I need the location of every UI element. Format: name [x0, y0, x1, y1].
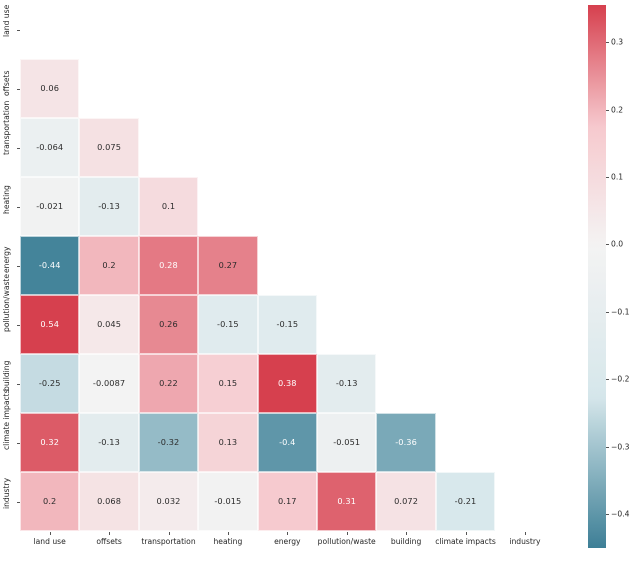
x-axis-tick-label: land use [5, 537, 95, 546]
colorbar-tick-label: 0.2 [611, 105, 623, 114]
heatmap-cell-value: 0.072 [394, 497, 418, 505]
heatmap-cell[interactable]: -0.32 [139, 413, 198, 472]
heatmap-cell[interactable]: -0.4 [258, 413, 317, 472]
colorbar-tick-label: −0.3 [611, 442, 629, 451]
heatmap-cell[interactable]: 0.032 [139, 472, 198, 531]
colorbar-gradient [588, 5, 606, 548]
x-axis-tick-mark [466, 532, 467, 535]
heatmap-cell-value: 0.032 [157, 497, 181, 505]
heatmap-cell-value: -0.13 [98, 202, 120, 210]
heatmap-cell[interactable]: 0.06 [20, 59, 79, 118]
heatmap-cell-value: 0.15 [219, 379, 238, 387]
heatmap-cell[interactable]: 0.28 [139, 236, 198, 295]
heatmap-cell[interactable]: -0.21 [436, 472, 495, 531]
heatmap-cell[interactable]: -0.25 [20, 354, 79, 413]
heatmap-cell-value: -0.21 [455, 497, 477, 505]
heatmap-cell[interactable]: 0.1 [139, 177, 198, 236]
colorbar-tick-label: −0.1 [611, 307, 629, 316]
heatmap-cell-value: 0.13 [219, 438, 238, 446]
heatmap-cell-value: -0.015 [214, 497, 241, 505]
heatmap-cell[interactable]: -0.13 [79, 413, 138, 472]
heatmap-cell[interactable]: -0.051 [317, 413, 376, 472]
x-axis-tick-mark [525, 532, 526, 535]
heatmap-cell-value: -0.15 [276, 320, 298, 328]
heatmap-cell-value: -0.13 [98, 438, 120, 446]
colorbar-tick-label: 0.1 [611, 173, 623, 182]
y-axis-tick-label: building [1, 377, 13, 391]
heatmap-cell[interactable]: -0.44 [20, 236, 79, 295]
heatmap-cell[interactable]: 0.068 [79, 472, 138, 531]
x-axis-tick-mark [287, 532, 288, 535]
colorbar[interactable]: 0.30.20.10.0−0.1−0.2−0.3−0.4 [588, 5, 606, 548]
x-axis-tick-mark [228, 532, 229, 535]
heatmap-cell[interactable]: -0.064 [20, 118, 79, 177]
x-axis-tick-label: pollution/waste [302, 537, 392, 546]
y-axis-tick-label: energy [1, 259, 13, 273]
heatmap-cell-value: 0.2 [102, 261, 115, 269]
heatmap-cell[interactable]: 0.075 [79, 118, 138, 177]
heatmap-cell-value: 0.22 [159, 379, 178, 387]
heatmap-cell-value: -0.32 [158, 438, 180, 446]
colorbar-tick-mark [606, 244, 609, 245]
x-axis-tick-label: transportation [124, 537, 214, 546]
heatmap-cell-value: -0.13 [336, 379, 358, 387]
heatmap-cell-value: -0.25 [39, 379, 61, 387]
heatmap-cell-value: 0.068 [97, 497, 121, 505]
heatmap-cell[interactable]: -0.021 [20, 177, 79, 236]
heatmap-cell-value: -0.44 [39, 261, 61, 269]
heatmap-plot-area[interactable]: 0.06-0.0640.075-0.021-0.130.1-0.440.20.2… [20, 0, 554, 531]
heatmap-cell-value: -0.0087 [93, 379, 125, 387]
heatmap-cell-value: 0.17 [278, 497, 297, 505]
x-axis-tick-mark [347, 532, 348, 535]
colorbar-tick-mark [606, 42, 609, 43]
heatmap-cell-value: 0.31 [337, 497, 356, 505]
colorbar-tick-label: 0.0 [611, 240, 623, 249]
colorbar-tick-mark [606, 110, 609, 111]
heatmap-cell[interactable]: -0.13 [317, 354, 376, 413]
heatmap-cell[interactable]: -0.15 [258, 295, 317, 354]
heatmap-cell[interactable]: 0.32 [20, 413, 79, 472]
y-axis-tick-label: heating [1, 200, 13, 214]
y-axis-tick-label: offsets [1, 82, 13, 96]
y-axis-tick-label: transportation [1, 141, 13, 155]
heatmap-cell-value: -0.051 [333, 438, 360, 446]
y-axis-tick-label: pollution/waste [1, 318, 13, 332]
x-axis-tick-mark [406, 532, 407, 535]
x-axis-tick-label: climate impacts [421, 537, 511, 546]
colorbar-tick-mark [606, 379, 609, 380]
y-axis-tick-label: climate impacts [1, 436, 13, 450]
heatmap-cell[interactable]: 0.38 [258, 354, 317, 413]
heatmap-cell[interactable]: -0.0087 [79, 354, 138, 413]
heatmap-cell[interactable]: 0.2 [20, 472, 79, 531]
colorbar-tick-label: −0.4 [611, 510, 629, 519]
heatmap-cell[interactable]: 0.22 [139, 354, 198, 413]
heatmap-cell[interactable]: -0.015 [198, 472, 257, 531]
x-axis-tick-label: offsets [64, 537, 154, 546]
x-axis-tick-mark [169, 532, 170, 535]
heatmap-cell[interactable]: 0.27 [198, 236, 257, 295]
heatmap-cell-value: -0.064 [36, 143, 63, 151]
heatmap-cell[interactable]: 0.17 [258, 472, 317, 531]
x-axis-tick-label: energy [242, 537, 332, 546]
heatmap-cell-value: 0.26 [159, 320, 178, 328]
heatmap-cell[interactable]: -0.36 [376, 413, 435, 472]
heatmap-cell[interactable]: 0.2 [79, 236, 138, 295]
heatmap-cell-value: 0.27 [219, 261, 238, 269]
heatmap-cell-value: 0.075 [97, 143, 121, 151]
heatmap-cell[interactable]: -0.13 [79, 177, 138, 236]
colorbar-tick-label: 0.3 [611, 38, 623, 47]
x-axis-tick-label: heating [183, 537, 273, 546]
heatmap-cell[interactable]: 0.13 [198, 413, 257, 472]
heatmap-cell-value: -0.021 [36, 202, 63, 210]
heatmap-cell-value: -0.15 [217, 320, 239, 328]
y-axis-tick-label: industry [1, 495, 13, 509]
x-axis-tick-mark [50, 532, 51, 535]
heatmap-cell[interactable]: -0.15 [198, 295, 257, 354]
heatmap-cell-value: 0.54 [40, 320, 59, 328]
heatmap-cell-value: 0.1 [162, 202, 175, 210]
heatmap-cell[interactable]: 0.54 [20, 295, 79, 354]
x-axis-tick-label: building [361, 537, 451, 546]
heatmap-cell[interactable]: 0.045 [79, 295, 138, 354]
colorbar-tick-mark [606, 447, 609, 448]
heatmap-cell[interactable]: 0.15 [198, 354, 257, 413]
heatmap-cell-value: 0.28 [159, 261, 178, 269]
colorbar-tick-label: −0.2 [611, 375, 629, 384]
heatmap-cell-value: -0.36 [395, 438, 417, 446]
colorbar-tick-mark [606, 312, 609, 313]
colorbar-tick-mark [606, 177, 609, 178]
heatmap-cell-value: 0.2 [43, 497, 56, 505]
heatmap-cell[interactable]: 0.26 [139, 295, 198, 354]
heatmap-cell-value: 0.38 [278, 379, 297, 387]
x-axis-tick-mark [109, 532, 110, 535]
heatmap-cell[interactable]: 0.31 [317, 472, 376, 531]
heatmap-cell-value: 0.06 [40, 84, 59, 92]
correlation-heatmap-figure: 0.06-0.0640.075-0.021-0.130.1-0.440.20.2… [0, 0, 640, 580]
heatmap-cell[interactable]: 0.072 [376, 472, 435, 531]
x-axis-tick-label: industry [480, 537, 570, 546]
colorbar-tick-mark [606, 514, 609, 515]
heatmap-cell-value: 0.32 [40, 438, 59, 446]
heatmap-cell-value: 0.045 [97, 320, 121, 328]
y-axis-tick-label: land use [1, 23, 13, 37]
heatmap-cell-value: -0.4 [279, 438, 295, 446]
